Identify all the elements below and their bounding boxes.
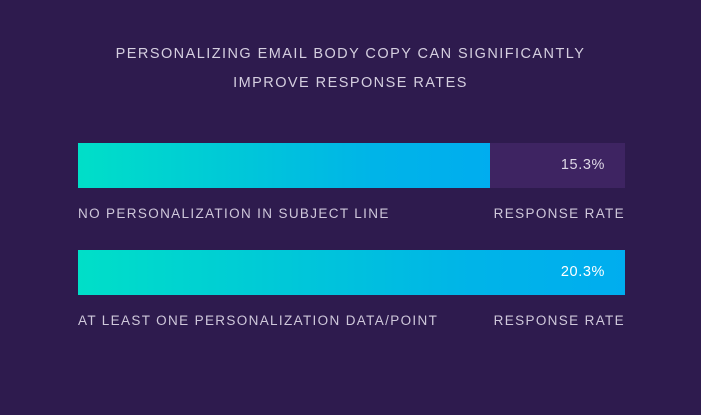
bar-caption-row: NO PERSONALIZATION IN SUBJECT LINE RESPO… [78,206,625,221]
bar-fill [78,143,490,188]
title-line-1: PERSONALIZING EMAIL BODY COPY CAN SIGNIF… [0,40,701,69]
bar-track: 15.3% [78,143,625,188]
bar-group-no-personalization: 15.3% NO PERSONALIZATION IN SUBJECT LINE… [78,143,625,221]
bar-metric-label: RESPONSE RATE [494,206,625,221]
bar-value-label: 20.3% [561,250,605,295]
bar-category-label: AT LEAST ONE PERSONALIZATION DATA/POINT [78,313,438,328]
bar-track: 20.3% [78,250,625,295]
bar-metric-label: RESPONSE RATE [494,313,625,328]
bar-caption-row: AT LEAST ONE PERSONALIZATION DATA/POINT … [78,313,625,328]
infographic-canvas: PERSONALIZING EMAIL BODY COPY CAN SIGNIF… [0,0,701,415]
title-line-2: IMPROVE RESPONSE RATES [0,69,701,98]
page-title: PERSONALIZING EMAIL BODY COPY CAN SIGNIF… [0,40,701,98]
bar-category-label: NO PERSONALIZATION IN SUBJECT LINE [78,206,390,221]
bar-chart: 15.3% NO PERSONALIZATION IN SUBJECT LINE… [78,143,625,328]
bar-group-one-personalization: 20.3% AT LEAST ONE PERSONALIZATION DATA/… [78,250,625,328]
bar-fill [78,250,625,295]
bar-value-label: 15.3% [561,143,605,188]
